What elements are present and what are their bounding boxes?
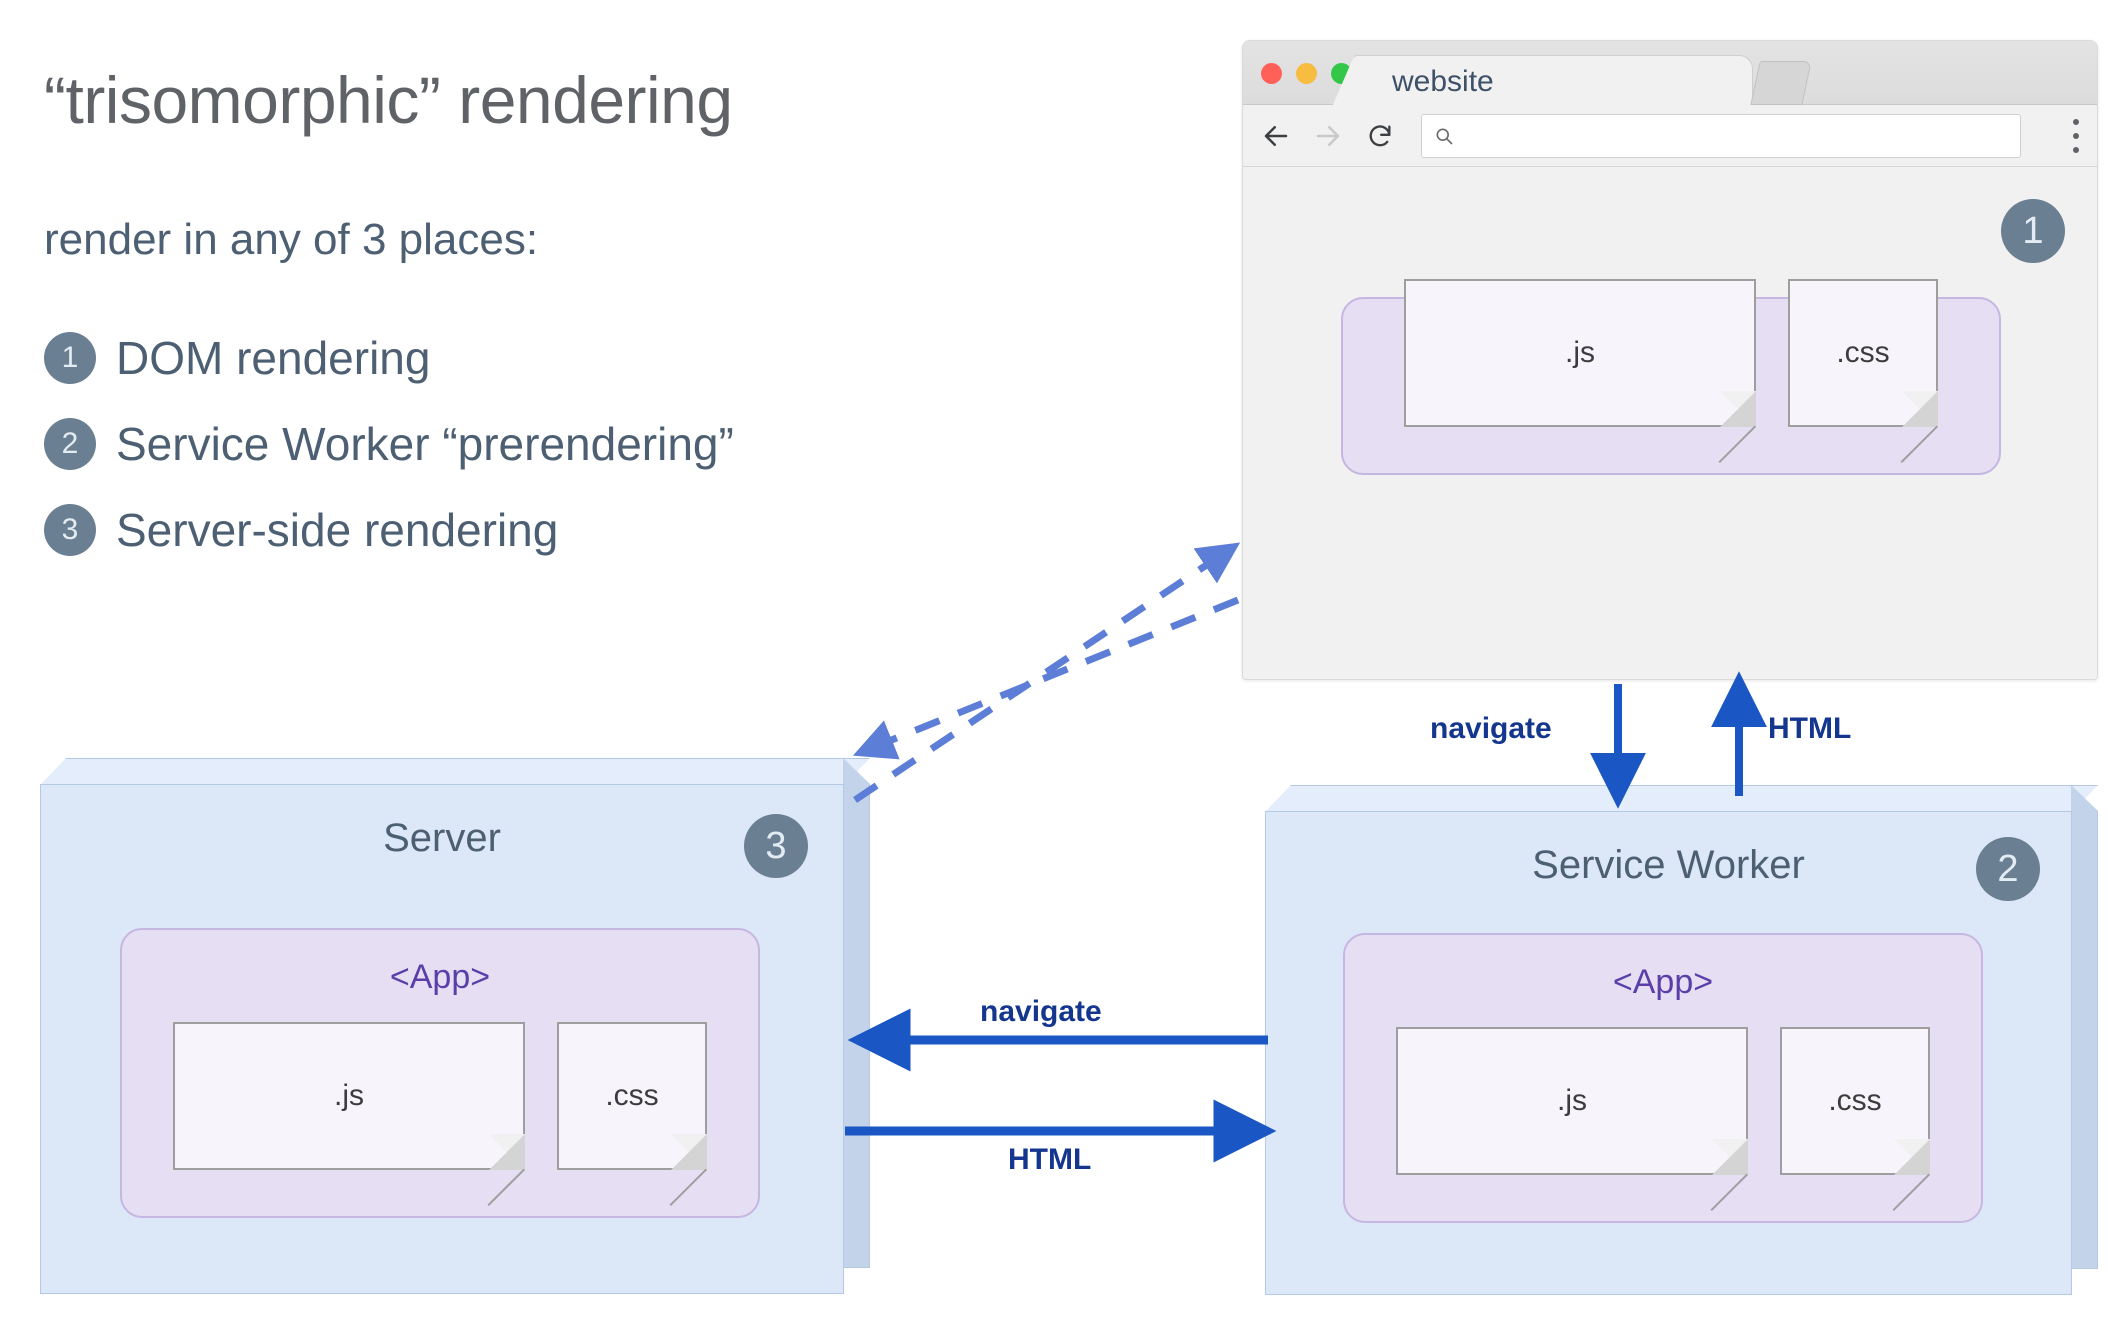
app-documents: .js .css [1343, 279, 1999, 427]
forward-arrow-icon [1305, 113, 1351, 159]
search-icon [1434, 126, 1454, 146]
server-title: Server [40, 816, 844, 861]
service-worker-box: Service Worker 2 <App> .js .css [1265, 785, 2098, 1295]
server-box-top-face [40, 758, 870, 785]
browser-window: website 1 <App [1242, 40, 2098, 680]
list-badge-3: 3 [44, 504, 96, 556]
server-app-panel: <App> .js .css [120, 928, 760, 1218]
server-box: Server 3 <App> .js .css [40, 758, 870, 1294]
app-documents: .js .css [1345, 1027, 1981, 1175]
page-fold-icon [1902, 391, 1938, 427]
browser-tab-label: website [1392, 65, 1494, 99]
browser-step-badge: 1 [2001, 199, 2065, 263]
page-title: “trisomorphic” rendering [44, 62, 733, 138]
reload-icon[interactable] [1357, 113, 1403, 159]
server-box-side-face [843, 758, 870, 1268]
browser-app-panel: <App> .js .css [1341, 297, 2001, 475]
service-worker-box-top-face [1265, 785, 2098, 812]
page-subtitle: render in any of 3 places: [44, 215, 538, 265]
js-file-icon: .js [1404, 279, 1756, 427]
address-bar[interactable] [1421, 114, 2021, 158]
places-list: 1 DOM rendering 2 Service Worker “preren… [44, 315, 734, 573]
new-tab-button[interactable] [1750, 61, 1811, 105]
css-file-icon: .css [1788, 279, 1938, 427]
arrow-dashed-browser-to-server [862, 600, 1238, 752]
service-worker-box-side-face [2071, 785, 2098, 1269]
diagram-canvas: “trisomorphic” rendering render in any o… [0, 0, 2108, 1328]
js-file-label: .js [1557, 1084, 1587, 1118]
list-badge-2: 2 [44, 418, 96, 470]
page-fold-icon [671, 1134, 707, 1170]
css-file-icon: .css [1780, 1027, 1930, 1175]
page-fold-icon [489, 1134, 525, 1170]
app-panel-title: <App> [1345, 963, 1981, 1002]
close-window-icon[interactable] [1261, 63, 1282, 84]
browser-menu-icon[interactable] [2071, 119, 2081, 153]
browser-tab[interactable]: website [1353, 55, 1753, 106]
list-item: 1 DOM rendering [44, 315, 734, 401]
arrow-label-html-vertical: HTML [1768, 712, 1851, 746]
arrow-label-html-horizontal: HTML [1008, 1143, 1091, 1177]
app-documents: .js .css [122, 1022, 758, 1170]
browser-toolbar [1243, 105, 2097, 167]
list-item: 2 Service Worker “prerendering” [44, 401, 734, 487]
js-file-label: .js [334, 1079, 364, 1113]
service-worker-title: Service Worker [1265, 843, 2072, 888]
css-file-label: .css [1836, 336, 1889, 370]
service-worker-app-panel: <App> .js .css [1343, 933, 1983, 1223]
page-fold-icon [1712, 1139, 1748, 1175]
list-item-label: Server-side rendering [116, 503, 558, 557]
browser-viewport: 1 <App> .js .css [1243, 167, 2097, 679]
arrow-dashed-server-to-browser [855, 548, 1232, 800]
minimize-window-icon[interactable] [1296, 63, 1317, 84]
list-item-label: Service Worker “prerendering” [116, 417, 734, 471]
address-bar-input[interactable] [1454, 125, 2020, 148]
arrow-label-navigate-horizontal: navigate [980, 995, 1102, 1029]
list-item: 3 Server-side rendering [44, 487, 734, 573]
list-item-label: DOM rendering [116, 331, 430, 385]
js-file-icon: .js [1396, 1027, 1748, 1175]
js-file-label: .js [1565, 336, 1595, 370]
server-step-badge: 3 [744, 814, 808, 878]
back-arrow-icon[interactable] [1253, 113, 1299, 159]
js-file-icon: .js [173, 1022, 525, 1170]
browser-titlebar: website [1243, 41, 2097, 105]
css-file-label: .css [1828, 1084, 1881, 1118]
arrow-label-navigate-vertical: navigate [1430, 712, 1552, 746]
css-file-icon: .css [557, 1022, 707, 1170]
css-file-label: .css [605, 1079, 658, 1113]
page-fold-icon [1720, 391, 1756, 427]
service-worker-step-badge: 2 [1976, 837, 2040, 901]
app-panel-title: <App> [122, 958, 758, 997]
list-badge-1: 1 [44, 332, 96, 384]
page-fold-icon [1894, 1139, 1930, 1175]
